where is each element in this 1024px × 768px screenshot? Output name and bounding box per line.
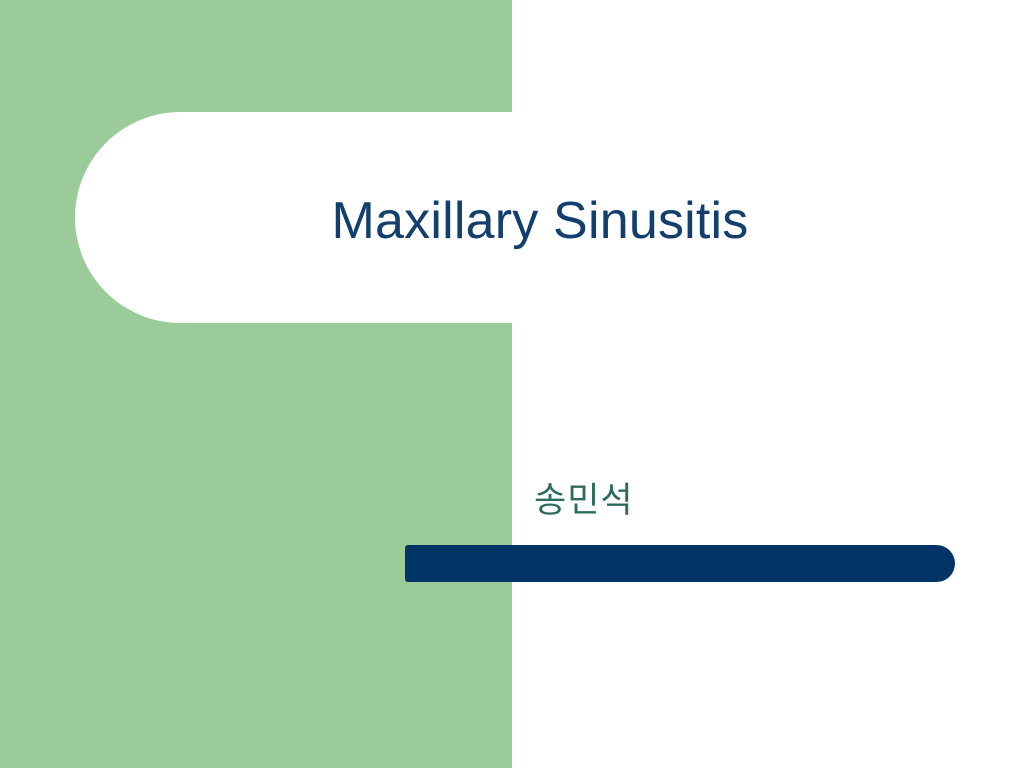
accent-bar-shape bbox=[405, 545, 955, 582]
slide-subtitle-author: 송민석 bbox=[534, 479, 634, 523]
presentation-slide: Maxillary Sinusitis 송민석 bbox=[0, 0, 1024, 768]
slide-title: Maxillary Sinusitis bbox=[150, 190, 930, 252]
